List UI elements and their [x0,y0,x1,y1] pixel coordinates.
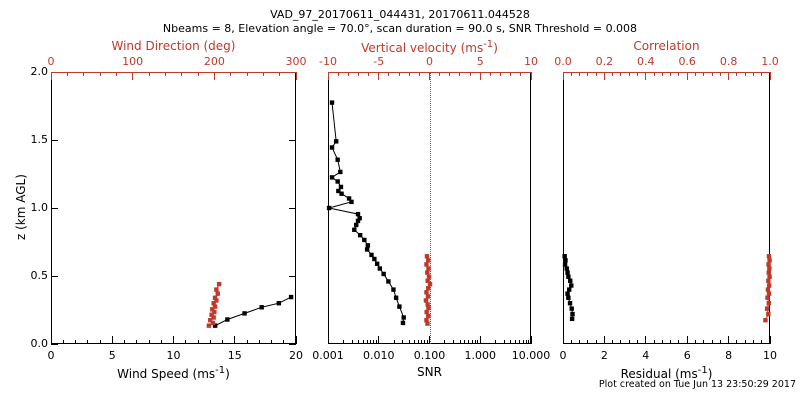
panel-wind [51,72,296,344]
y-tick-label: 1.5 [14,133,48,146]
data-point [356,219,360,223]
data-point [568,279,572,283]
x-axis-title: SNR [310,365,550,379]
data-point [563,258,567,262]
data-point [567,287,571,291]
data-point [569,306,573,310]
data-point [338,170,342,174]
data-point [339,185,343,189]
data-point [339,192,343,196]
panel-snr [328,72,531,344]
data-point [372,257,376,261]
data-point [767,258,771,262]
data-point [335,179,339,183]
data-point [766,262,770,266]
data-point [424,298,428,302]
data-point [242,311,246,315]
data-point [378,266,382,270]
plot-canvas: VAD_97_20170611_044431, 20170611.044528 … [0,0,800,400]
data-point [426,294,430,298]
data-point [327,206,331,210]
data-point [214,287,218,291]
data-point [365,247,369,251]
y-tick-label: 0.5 [14,269,48,282]
data-point [767,266,771,270]
data-point [386,279,390,283]
data-point [427,274,431,278]
data-point [424,310,428,314]
x-top-tick-label: 100 [93,55,173,68]
data-point [766,312,770,316]
data-point [330,145,334,149]
data-point [426,286,430,290]
data-point [356,212,360,216]
data-point [334,139,338,143]
x-axis-title: Wind Speed (ms-1) [54,365,294,381]
x-axis-title-top: Wind Direction (deg) [54,39,294,53]
data-point [767,274,771,278]
panel3-series [563,72,770,344]
x-top-tick-label: 200 [174,55,254,68]
data-point [207,323,211,327]
data-point [425,321,429,325]
data-point [569,283,573,287]
data-point [568,301,572,305]
data-point [426,314,430,318]
data-point [277,301,281,305]
data-point [217,282,221,286]
data-point [566,274,570,278]
data-point [330,100,334,104]
data-point [426,306,430,310]
data-point [767,283,771,287]
x-axis-title: Residual (ms-1) [547,365,787,381]
data-point [401,321,405,325]
data-point [424,290,428,294]
x-axis-title-top: Vertical velocity (ms-1) [310,39,550,55]
data-point [428,282,432,286]
data-point [765,306,769,310]
data-point [766,287,770,291]
data-point [366,243,370,247]
data-point [381,272,385,276]
data-point [260,305,264,309]
data-point [566,296,570,300]
data-point [766,279,770,283]
data-point [570,312,574,316]
data-point [354,223,358,227]
data-point [213,296,217,300]
data-point [425,254,429,258]
data-point [765,296,769,300]
plot-title-line-2: Nbeams = 8, Elevation angle = 70.0°, sca… [0,22,800,35]
data-point [570,317,574,321]
data-point [426,258,430,262]
data-point [352,228,356,232]
panel2-series [328,72,531,344]
data-point [565,270,569,274]
plot-title-line-1: VAD_97_20170611_044431, 20170611.044528 [0,8,800,21]
data-point [425,270,429,274]
data-point [767,254,771,258]
data-point [424,262,428,266]
data-point [767,270,771,274]
x-top-tick-label: 0 [11,55,91,68]
data-point [225,317,229,321]
data-point [565,266,569,270]
data-point [563,262,567,266]
data-point [565,291,569,295]
data-point [767,291,771,295]
x-axis-title-top: Correlation [547,39,787,53]
data-point [289,295,293,299]
x-top-tick-label: 1.0 [730,55,800,68]
data-point [391,287,395,291]
data-point [562,254,566,258]
x-tick-label: 10 [730,349,800,362]
data-point [335,158,339,162]
data-point [394,296,398,300]
data-point [358,233,362,237]
data-point [362,238,366,242]
data-point [369,253,373,257]
data-point [763,318,767,322]
data-point [426,266,430,270]
data-point [767,301,771,305]
y-tick-label: 1.0 [14,201,48,214]
data-point [330,175,334,179]
data-point [397,304,401,308]
panel-residual [563,72,770,344]
data-point [401,315,405,319]
panel1-series [51,72,296,344]
data-point [375,262,379,266]
data-point [216,291,220,295]
data-point [349,200,353,204]
